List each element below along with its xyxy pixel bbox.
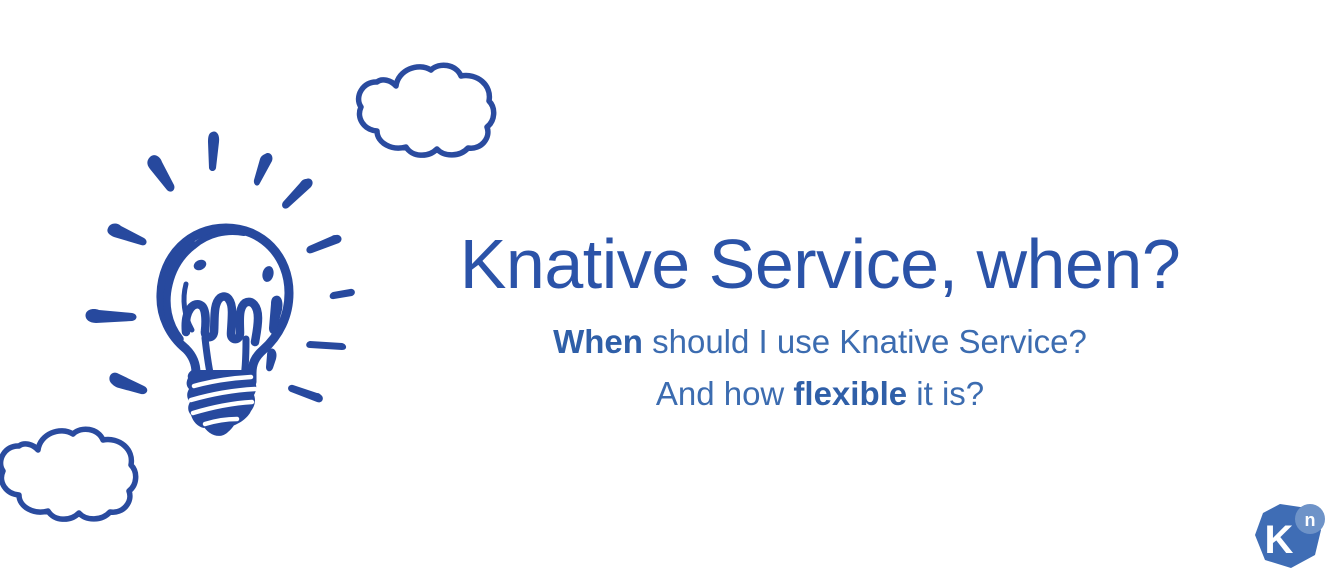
lightbulb-icon	[74, 124, 366, 436]
headline-group: Knative Service, when? When should I use…	[400, 222, 1240, 420]
subtitle-line-2-prefix: And how	[656, 375, 794, 412]
cloud-icon-top	[344, 56, 502, 164]
subtitle-line-1: When should I use Knative Service?	[400, 316, 1240, 368]
subtitle-emphasis-when: When	[553, 323, 643, 360]
knative-logo: K n	[1249, 502, 1329, 574]
page-title: Knative Service, when?	[400, 222, 1240, 306]
slide-canvas: Knative Service, when? When should I use…	[0, 0, 1341, 585]
subtitle-line-2: And how flexible it is?	[400, 368, 1240, 420]
cloud-icon-bottom	[0, 420, 144, 528]
subtitle-line-1-rest: should I use Knative Service?	[643, 323, 1087, 360]
subtitle-line-2-suffix: it is?	[907, 375, 984, 412]
logo-letter-k: K	[1265, 518, 1294, 562]
subtitle-emphasis-flexible: flexible	[793, 375, 907, 412]
logo-letter-n: n	[1305, 510, 1316, 530]
